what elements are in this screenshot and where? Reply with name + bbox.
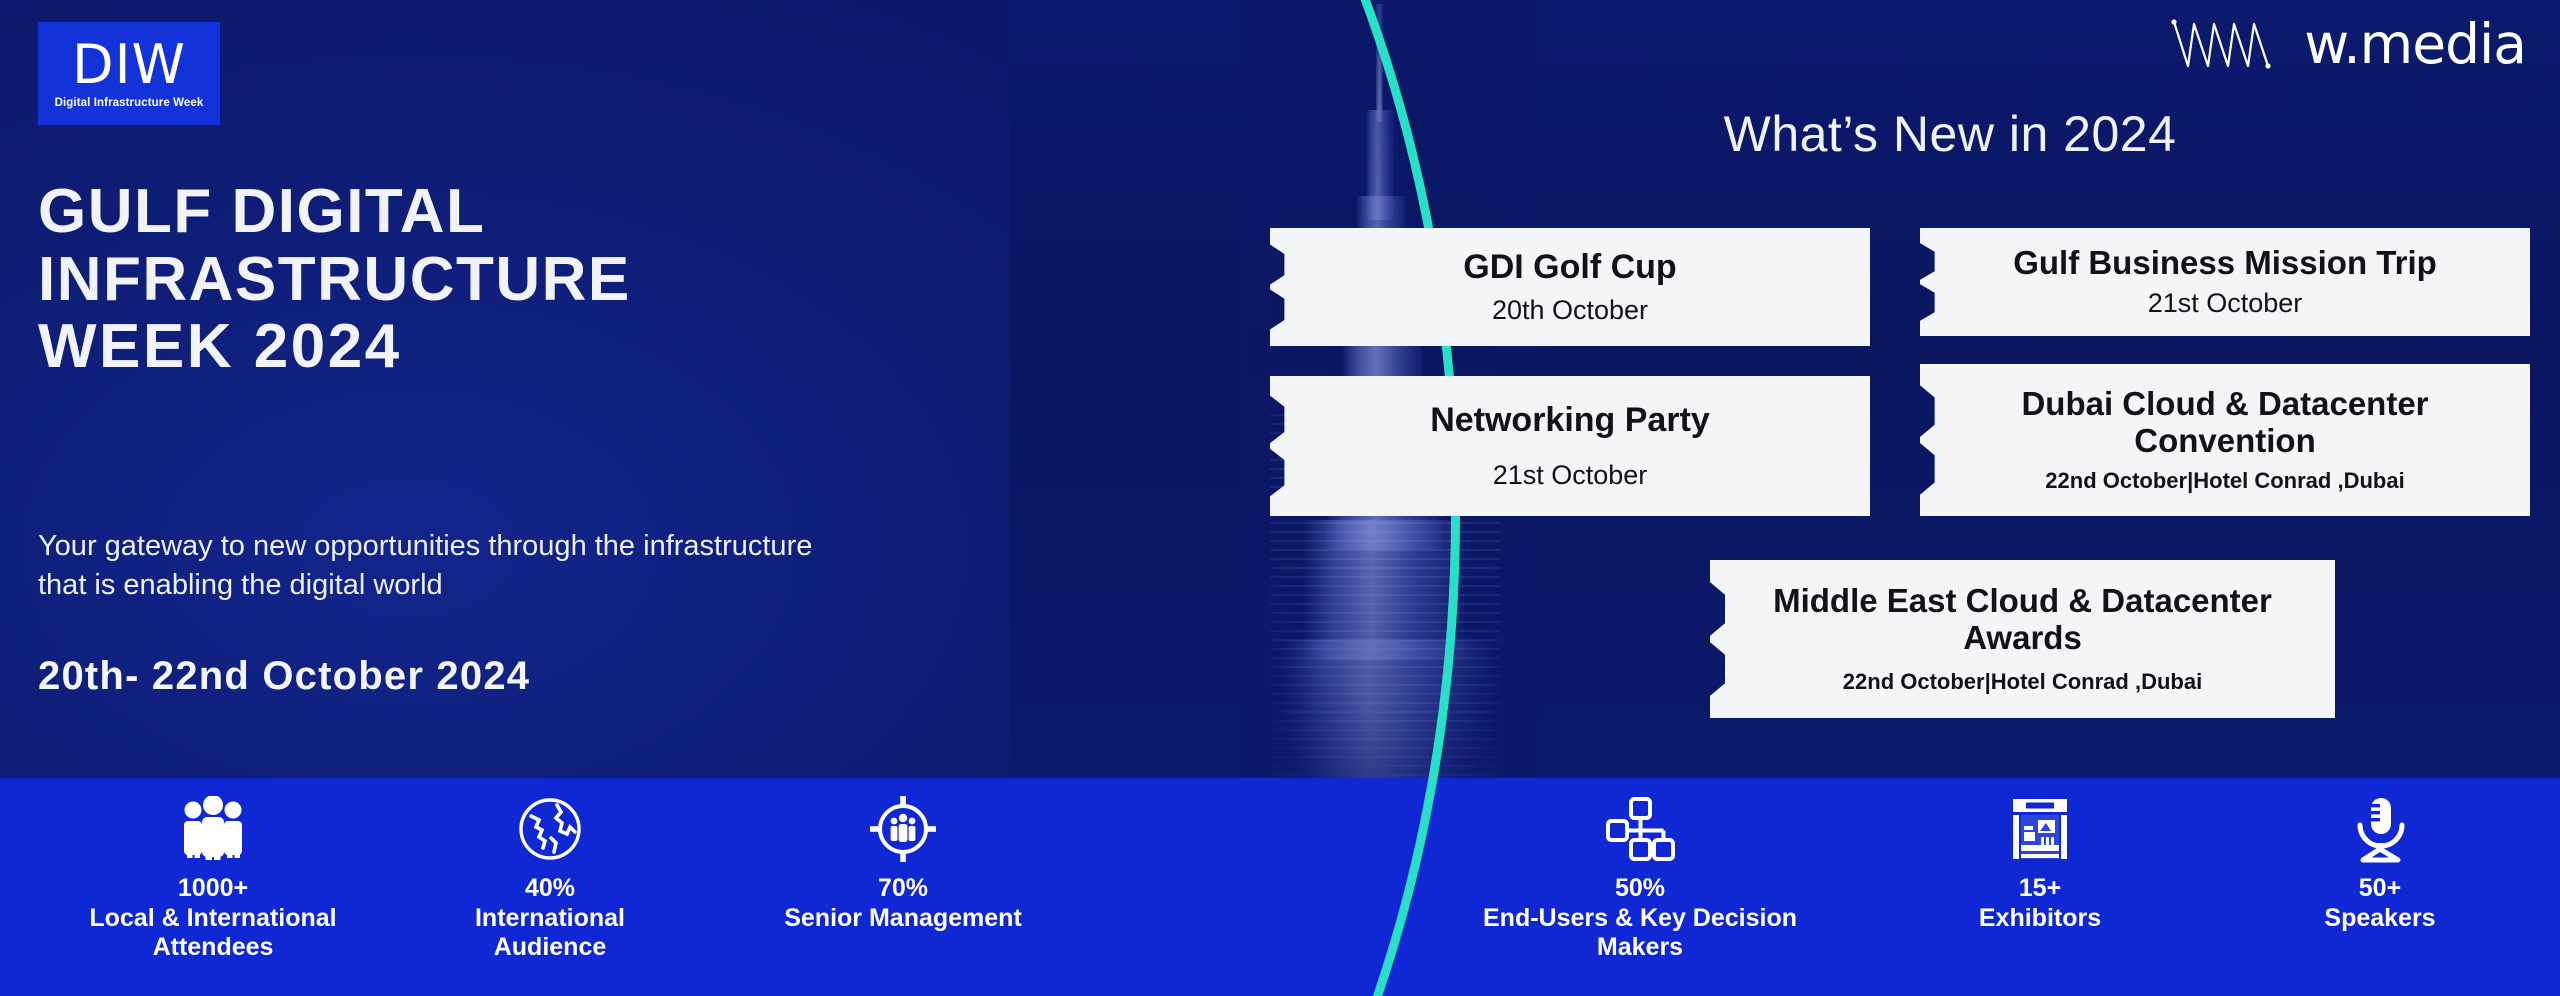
card-title-line-1: Middle East Cloud & Datacenter (1773, 583, 2272, 620)
card-middle-east-cloud-datacenter-awards[interactable]: Middle East Cloud & Datacenter Awards 22… (1710, 560, 2335, 718)
title-line-2: INFRASTRUCTURE (38, 246, 938, 314)
title-line-3: WEEK 2024 (38, 313, 938, 381)
stats-bar: 1000+ Local & International Attendees 40… (0, 778, 2560, 996)
whats-new-card-list: GDI Golf Cup 20th October Gulf Business … (1270, 228, 2540, 728)
page-title: GULF DIGITAL INFRASTRUCTURE WEEK 2024 (38, 178, 938, 381)
stat-number: 15+ (1890, 874, 2190, 904)
org-chart-icon (1440, 792, 1840, 866)
stat-label-line-1: Local & International (40, 904, 386, 934)
card-networking-party[interactable]: Networking Party 21st October (1270, 376, 1870, 516)
card-title: Gulf Business Mission Trip (2013, 245, 2437, 282)
globe-icon (400, 792, 700, 866)
microphone-icon (2230, 792, 2530, 866)
card-detail: 20th October (1492, 295, 1648, 326)
stat-attendees: 1000+ Local & International Attendees (40, 792, 386, 963)
three-people-icon (40, 792, 386, 866)
diw-logo-subtitle: Digital Infrastructure Week (55, 97, 204, 109)
card-title-line-1: Dubai Cloud & Datacenter (2021, 386, 2428, 423)
stat-label-line-1: Speakers (2230, 904, 2530, 934)
stat-number: 1000+ (40, 874, 386, 904)
card-detail: 21st October (1493, 460, 1648, 491)
subtitle-line-2: that is enabling the digital world (38, 566, 1168, 605)
wmedia-logo-text: w.media (2304, 17, 2526, 72)
stat-number: 50% (1440, 874, 1840, 904)
stat-number: 70% (730, 874, 1076, 904)
card-detail: 22nd October|Hotel Conrad ,Dubai (2045, 468, 2404, 494)
stat-label-line-2: Makers (1440, 933, 1840, 963)
card-gulf-business-mission-trip[interactable]: Gulf Business Mission Trip 21st October (1920, 228, 2530, 336)
stat-number: 50+ (2230, 874, 2530, 904)
card-title-line-2: Convention (2134, 423, 2315, 460)
whats-new-heading: What’s New in 2024 (1600, 105, 2300, 163)
stat-senior-management: 70% Senior Management (730, 792, 1076, 933)
stat-label-line-1: End-Users & Key Decision (1440, 904, 1840, 934)
subtitle-line-1: Your gateway to new opportunities throug… (38, 527, 1168, 566)
event-banner: DIW Digital Infrastructure Week w.media … (0, 0, 2560, 996)
card-dubai-cloud-datacenter-convention[interactable]: Dubai Cloud & Datacenter Convention 22nd… (1920, 364, 2530, 516)
target-people-icon (730, 792, 1076, 866)
stat-end-users-decision-makers: 50% End-Users & Key Decision Makers (1440, 792, 1840, 963)
stat-label-line-1: Senior Management (730, 904, 1076, 934)
zigzag-wave-icon (2168, 16, 2288, 72)
stat-label-line-2: Audience (400, 933, 700, 963)
hero-subtitle: Your gateway to new opportunities throug… (38, 527, 1168, 604)
card-detail: 22nd October|Hotel Conrad ,Dubai (1843, 669, 2202, 695)
card-title-line-2: Awards (1963, 620, 2082, 657)
title-line-1: GULF DIGITAL (38, 178, 938, 246)
card-title: Networking Party (1430, 401, 1710, 439)
stat-label-line-1: Exhibitors (1890, 904, 2190, 934)
card-detail: 21st October (2148, 288, 2303, 319)
stat-number: 40% (400, 874, 700, 904)
stat-international-audience: 40% International Audience (400, 792, 700, 963)
stat-label-line-2: Attendees (40, 933, 386, 963)
stat-speakers: 50+ Speakers (2230, 792, 2530, 933)
diw-logo-text: DIW (72, 38, 186, 92)
event-dates: 20th- 22nd October 2024 (38, 654, 530, 699)
card-gdi-golf-cup[interactable]: GDI Golf Cup 20th October (1270, 228, 1870, 346)
stat-label-line-1: International (400, 904, 700, 934)
exhibition-booth-icon (1890, 792, 2190, 866)
card-title: GDI Golf Cup (1463, 248, 1676, 286)
wmedia-logo: w.media (2168, 16, 2526, 72)
diw-logo: DIW Digital Infrastructure Week (38, 22, 220, 125)
stat-exhibitors: 15+ Exhibitors (1890, 792, 2190, 933)
